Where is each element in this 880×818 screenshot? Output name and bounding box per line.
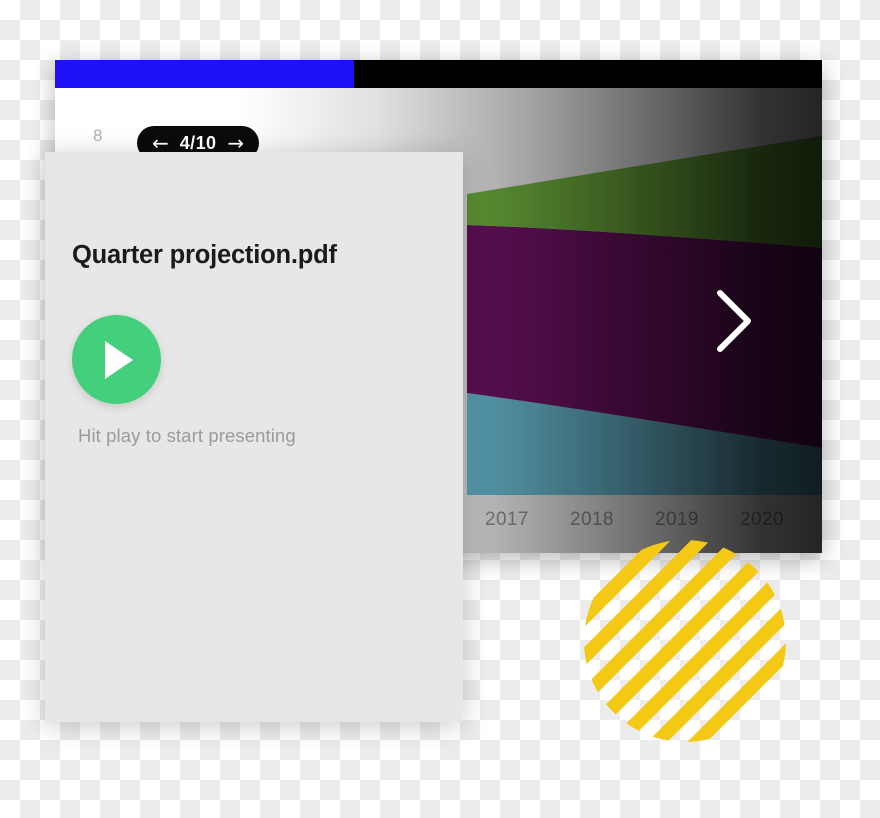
slide-progress-bar[interactable] bbox=[55, 60, 822, 88]
play-icon bbox=[105, 341, 133, 379]
x-axis-tick-2018: 2018 bbox=[570, 509, 614, 531]
y-axis-tick-8: 8 bbox=[93, 126, 103, 146]
play-hint-text: Hit play to start presenting bbox=[78, 425, 296, 447]
arrow-left-icon[interactable]: ← bbox=[152, 133, 169, 153]
x-axis-tick-2017: 2017 bbox=[485, 509, 529, 531]
file-title: Quarter projection.pdf bbox=[72, 241, 337, 270]
arrow-right-icon[interactable]: → bbox=[227, 133, 244, 153]
chevron-right-icon[interactable] bbox=[708, 281, 760, 361]
striped-circle-decoration bbox=[584, 540, 786, 742]
slide-counter: 4/10 bbox=[180, 134, 217, 152]
x-axis-tick-2019: 2019 bbox=[655, 509, 699, 531]
canvas-backdrop: 8 7 2017 2018 2019 2020 ← 4/10 → bbox=[0, 0, 880, 818]
play-button[interactable] bbox=[72, 315, 161, 404]
file-preview-card: Quarter projection.pdf Hit play to start… bbox=[45, 152, 463, 722]
slide-progress-fill bbox=[55, 60, 354, 88]
x-axis-tick-2020: 2020 bbox=[740, 509, 784, 531]
